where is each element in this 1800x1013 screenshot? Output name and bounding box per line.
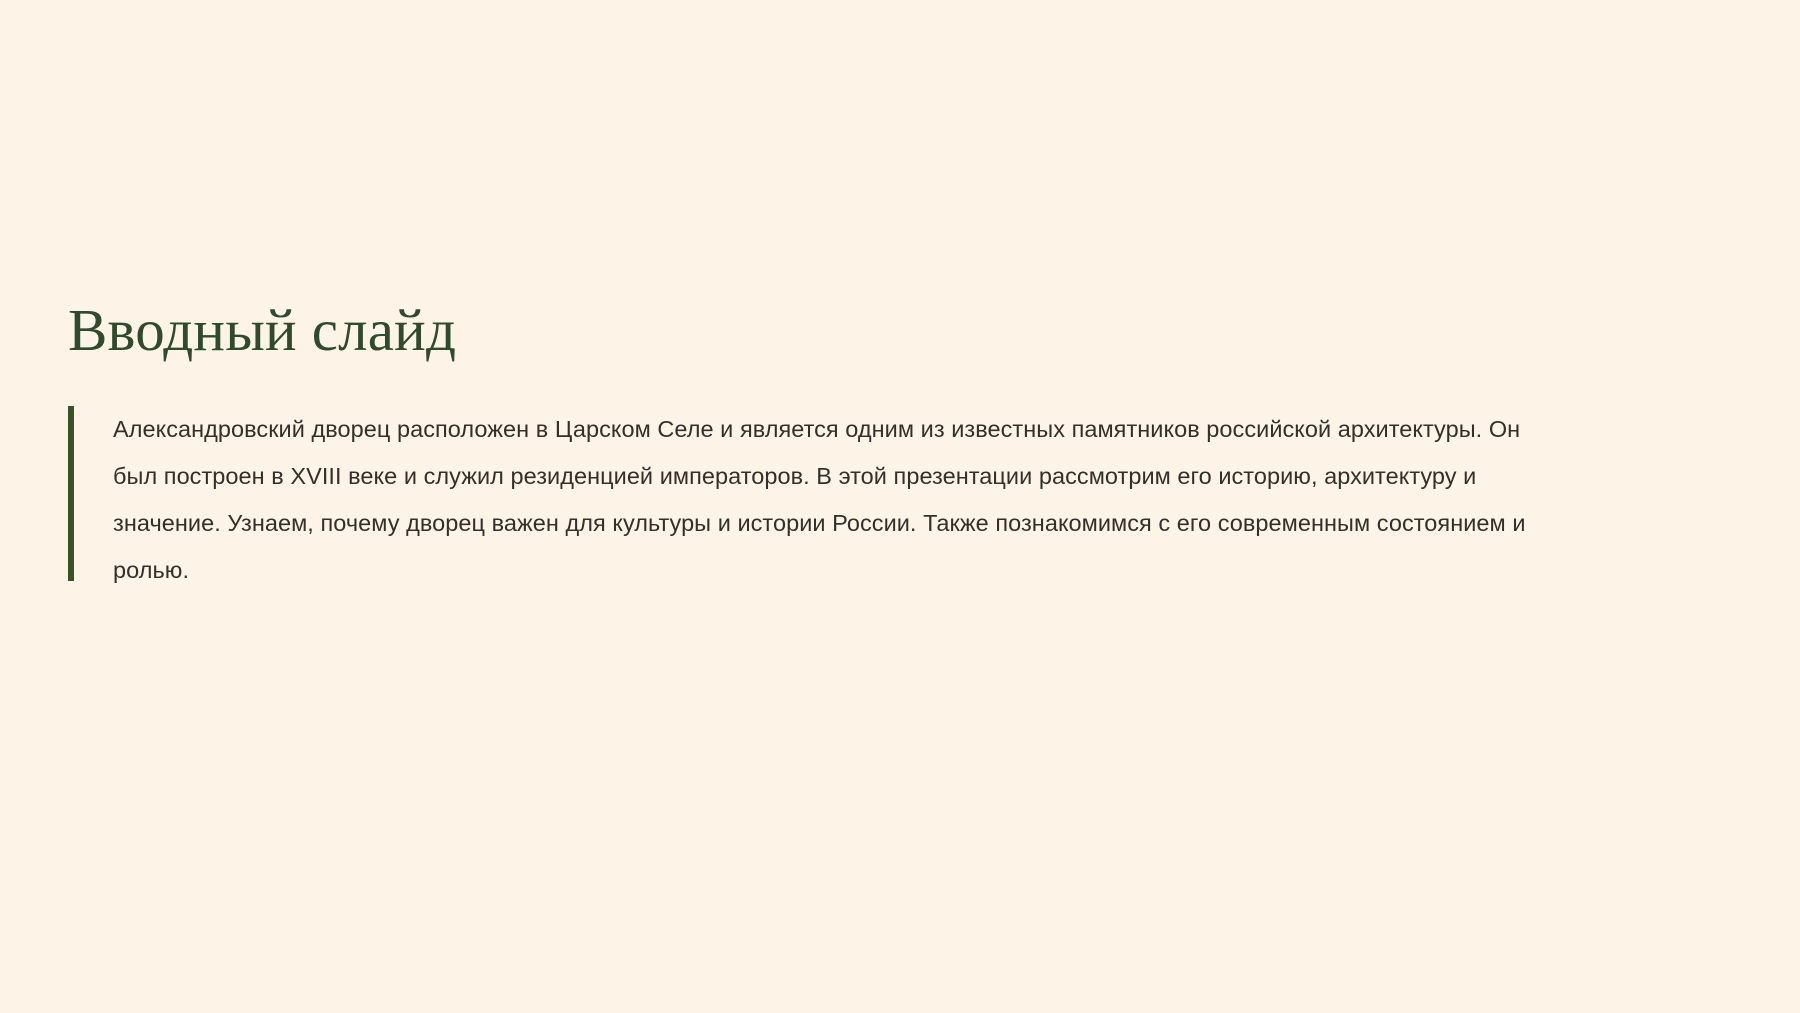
quote-block: Александровский дворец расположен в Царс… [68, 406, 1728, 594]
slide-body-text: Александровский дворец расположен в Царс… [113, 406, 1531, 594]
page-title: Вводный слайд [68, 296, 1728, 364]
presentation-slide: Вводный слайд Александровский дворец рас… [0, 0, 1800, 1013]
accent-bar [68, 406, 74, 581]
slide-content: Вводный слайд Александровский дворец рас… [68, 296, 1728, 594]
